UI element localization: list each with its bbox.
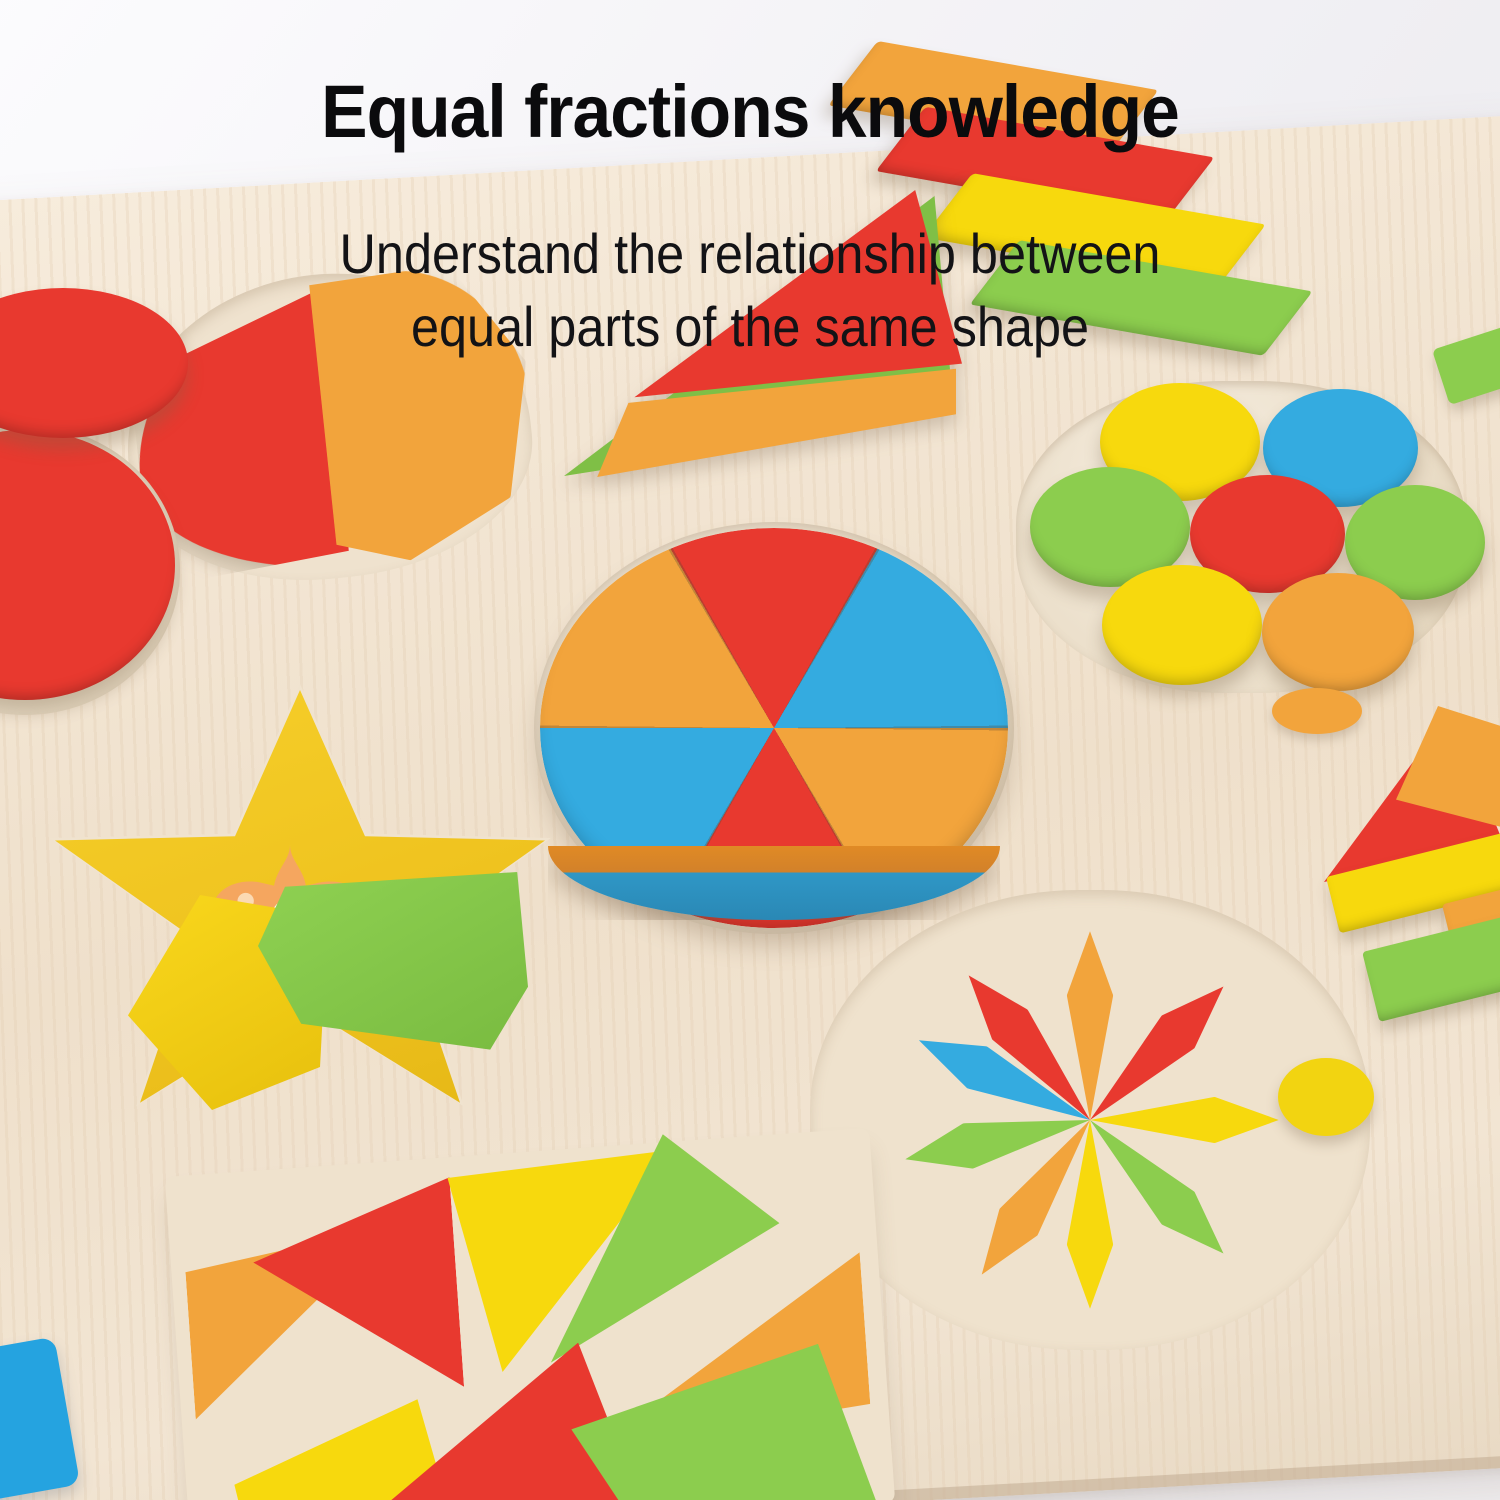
flower-disc-yellow-bottom[interactable] (1102, 565, 1262, 685)
product-photo-scene: Equal fractions knowledge Understand the… (0, 0, 1500, 1500)
loose-yellow-disc[interactable] (1278, 1058, 1374, 1136)
page-subtitle: Understand the relationship between equa… (75, 218, 1425, 364)
triangle-grid-square[interactable] (173, 1136, 886, 1500)
subtitle-line-2: equal parts of the same shape (75, 291, 1425, 364)
subtitle-line-1: Understand the relationship between (75, 218, 1425, 291)
loose-orange-disc[interactable] (1272, 688, 1362, 734)
tangram-bar-green[interactable] (1362, 906, 1500, 1022)
yellow-star-group[interactable] (50, 690, 570, 1170)
tangram-corner-group[interactable] (1300, 700, 1500, 1100)
flower-disc-orange-bottom[interactable] (1262, 573, 1414, 691)
page-title: Equal fractions knowledge (45, 74, 1455, 151)
flower-disc-cluster[interactable] (1010, 375, 1480, 705)
